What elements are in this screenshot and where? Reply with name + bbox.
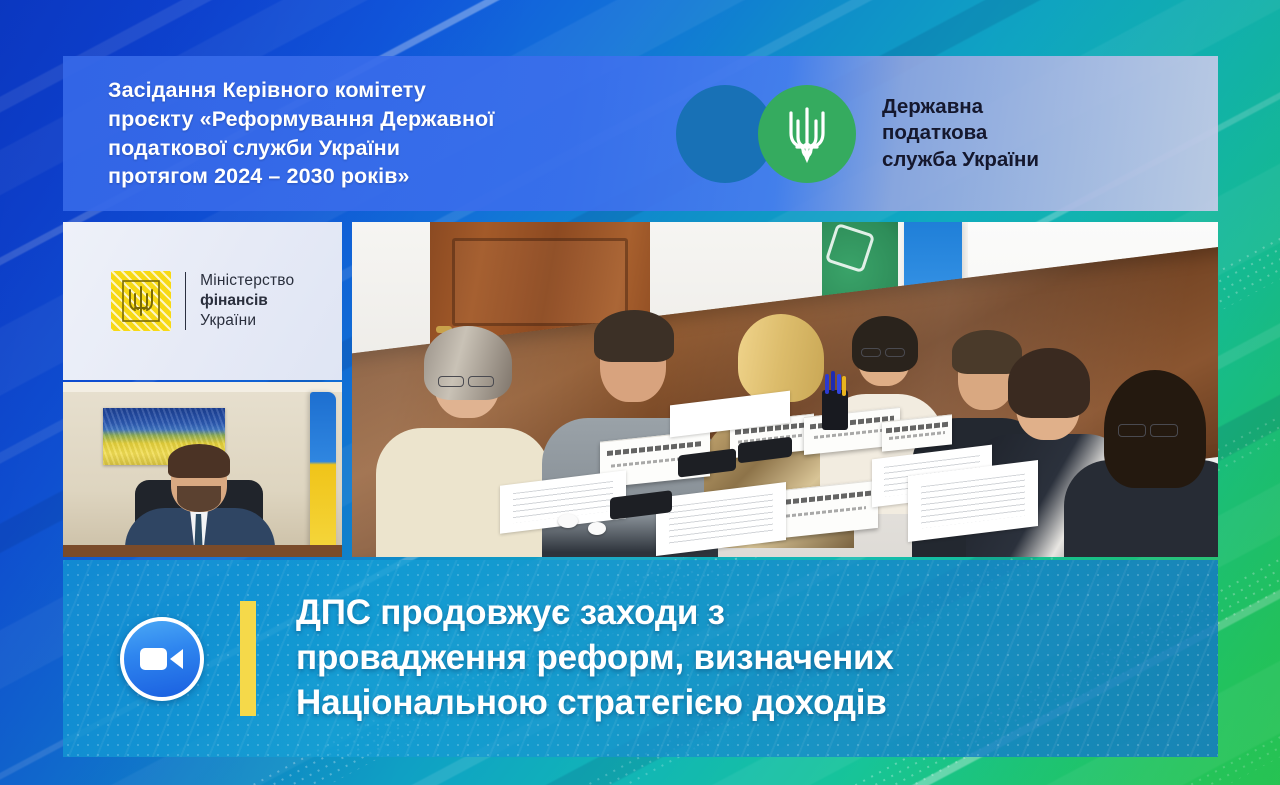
minfin-logo-card: Міністерство фінансів України — [63, 222, 342, 380]
camera-glyph — [139, 644, 185, 674]
minfin-line-1: Міністерство — [200, 271, 294, 291]
caption-text: ДПС продовжує заходи з провадження рефор… — [296, 591, 894, 725]
caption-divider — [240, 601, 256, 716]
cup — [588, 522, 606, 535]
caption-panel: ДПС продовжує заходи з провадження рефор… — [63, 560, 1218, 757]
video-camera-icon[interactable] — [120, 617, 204, 701]
minfin-line-3: України — [200, 311, 294, 331]
dps-logo: Державна податкова служба України — [676, 85, 1039, 183]
meeting-room-photo — [352, 222, 1218, 557]
ukraine-flag — [310, 392, 336, 550]
pen-holder — [822, 390, 848, 430]
video-camera-icon-wrap[interactable] — [120, 617, 204, 701]
dps-logo-text: Державна податкова служба України — [882, 94, 1039, 173]
video-participant-tile[interactable] — [63, 382, 342, 557]
minfin-logo-text: Міністерство фінансів України — [200, 271, 294, 331]
shield-trident-glyph — [121, 279, 161, 323]
minfin-line-2: фінансів — [200, 291, 294, 311]
header-panel: Засідання Керівного комітету проєкту «Ре… — [63, 56, 1218, 211]
minfin-divider — [185, 272, 187, 330]
trident-shield-icon — [111, 271, 171, 331]
logo-circle-green — [758, 85, 856, 183]
page-title: Засідання Керівного комітету проєкту «Ре… — [63, 76, 668, 190]
trident-icon — [783, 103, 831, 165]
cup — [558, 514, 578, 528]
